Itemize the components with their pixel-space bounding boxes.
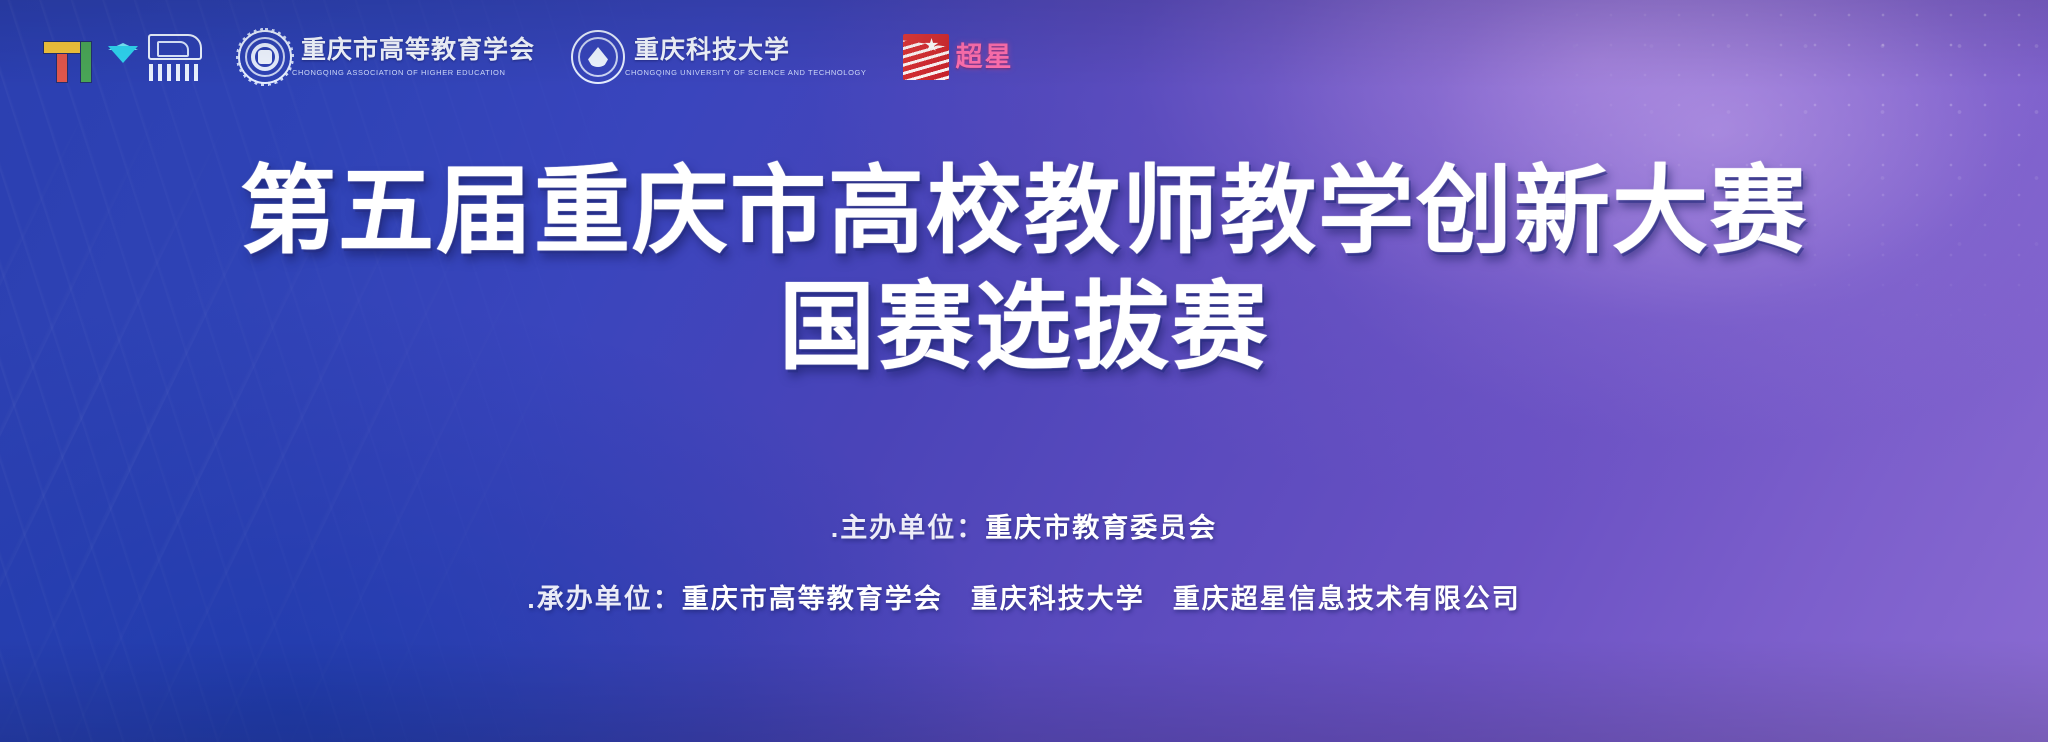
university-name-cn: 重庆科技大学 (634, 38, 867, 63)
circular-droplet-seal-icon (571, 30, 625, 84)
event-banner: 重庆市高等教育学会 CHONGQING ASSOCIATION OF HIGHE… (0, 0, 2048, 742)
university-name-cn-text: 重庆科技大学 (634, 38, 790, 63)
chaoxing-name-text: 超星 (956, 44, 1014, 71)
chongqing-university-science-technology-logo: 重庆科技大学 CHONGQING UNIVERSITY OF SCIENCE A… (571, 22, 867, 92)
association-name-cn: 重庆市高等教育学会 (301, 38, 535, 63)
ti-blocks-icon (40, 29, 100, 85)
background-light-rays (0, 0, 2048, 742)
banner-title: 第五届重庆市高校教师教学创新大赛 国赛选拔赛 (0, 160, 2048, 378)
chaoxing-logo: 超星 (903, 22, 1014, 92)
coorganizer-name-0: 重庆市高等教育学会 (682, 584, 943, 614)
background-glow (1268, 0, 2048, 440)
background-dot-texture (1288, 0, 2048, 430)
university-name-en-text: CHONGQING UNIVERSITY OF SCIENCE AND TECH… (625, 68, 867, 76)
diamond-icon (108, 43, 138, 71)
coorganizer-name-1: 重庆科技大学 (971, 584, 1145, 614)
vignette-overlay (0, 0, 2048, 742)
association-name-en-text: CHONGQING ASSOCIATION OF HIGHER EDUCATIO… (292, 68, 535, 76)
host-label: .主办单位： (831, 513, 986, 543)
coorganizer-label: .承办单位： (527, 584, 682, 614)
title-line-1: 第五届重庆市高校教师教学创新大赛 (0, 160, 2048, 262)
sponsor-logo-bar: 重庆市高等教育学会 CHONGQING ASSOCIATION OF HIGHE… (40, 22, 1014, 92)
ti-mark-logo (40, 22, 204, 92)
coorganizer-name-2: 重庆超星信息技术有限公司 (1173, 584, 1521, 614)
background-diagonal-streaks (0, 0, 2048, 742)
host-name-0: 重庆市教育委员会 (985, 513, 1217, 543)
chaoxing-swoosh-icon (903, 34, 949, 80)
title-line-2: 国赛选拔赛 (0, 276, 2048, 378)
organizer-line-coorganizer: .承办单位：重庆市高等教育学会重庆科技大学重庆超星信息技术有限公司 (0, 586, 2048, 613)
chongqing-association-higher-education-logo: 重庆市高等教育学会 CHONGQING ASSOCIATION OF HIGHE… (238, 22, 535, 92)
association-name-cn-text: 重庆市高等教育学会 (301, 38, 535, 63)
organizer-line-host: .主办单位：重庆市教育委员会 (0, 515, 2048, 542)
circular-seal-icon (238, 30, 292, 84)
organizer-block: .主办单位：重庆市教育委员会 .承办单位：重庆市高等教育学会重庆科技大学重庆超星… (0, 515, 2048, 613)
book-emblem-icon (146, 32, 204, 82)
